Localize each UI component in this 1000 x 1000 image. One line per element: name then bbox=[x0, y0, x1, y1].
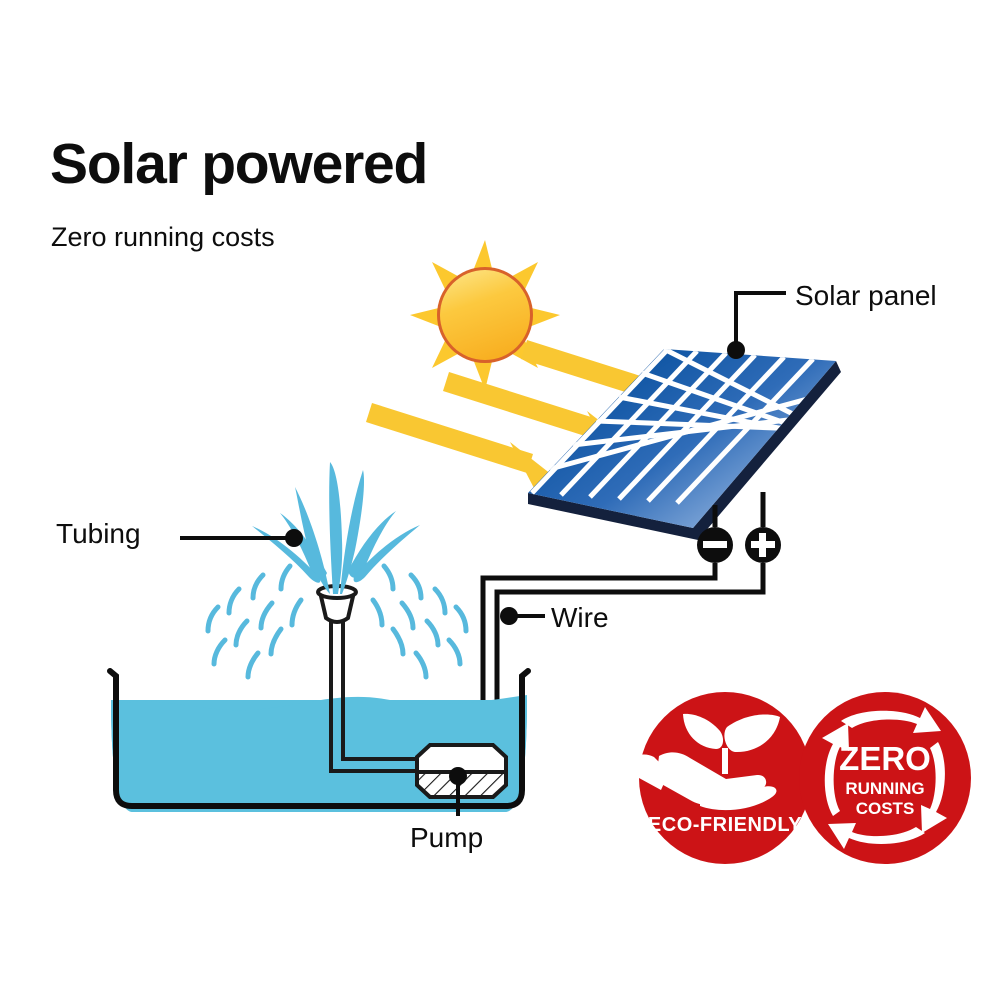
terminal-positive bbox=[745, 527, 781, 563]
infographic-canvas: ECO-FRIENDLY ZERO RUNNING COSTS Solar po… bbox=[0, 0, 1000, 1000]
dot-tubing bbox=[285, 529, 303, 547]
terminal-negative bbox=[697, 527, 733, 563]
page-subtitle: Zero running costs bbox=[51, 222, 275, 253]
dot-pump bbox=[449, 767, 467, 785]
page-title: Solar powered bbox=[50, 131, 427, 197]
dot-solar-panel bbox=[727, 341, 745, 359]
callout-label-wire: Wire bbox=[551, 602, 609, 634]
badge-zero-running-costs: ZERO RUNNING COSTS bbox=[799, 692, 971, 864]
callout-label-tubing: Tubing bbox=[56, 518, 141, 550]
solar-panel-icon bbox=[416, 340, 973, 540]
badge-eco-label: ECO-FRIENDLY bbox=[648, 814, 802, 836]
badge-eco-friendly: ECO-FRIENDLY bbox=[631, 692, 811, 864]
fountain-spray-icon bbox=[208, 462, 466, 677]
callout-label-solar-panel: Solar panel bbox=[795, 280, 937, 312]
leader-solar-panel bbox=[736, 293, 786, 348]
sun-icon bbox=[410, 240, 560, 390]
badge-zero-line2: RUNNING bbox=[845, 779, 924, 798]
badge-zero-line1: ZERO bbox=[839, 740, 931, 777]
callout-label-pump: Pump bbox=[410, 822, 483, 854]
dot-wire bbox=[500, 607, 518, 625]
sun-core bbox=[440, 270, 530, 360]
badge-zero-line3: COSTS bbox=[856, 799, 915, 818]
